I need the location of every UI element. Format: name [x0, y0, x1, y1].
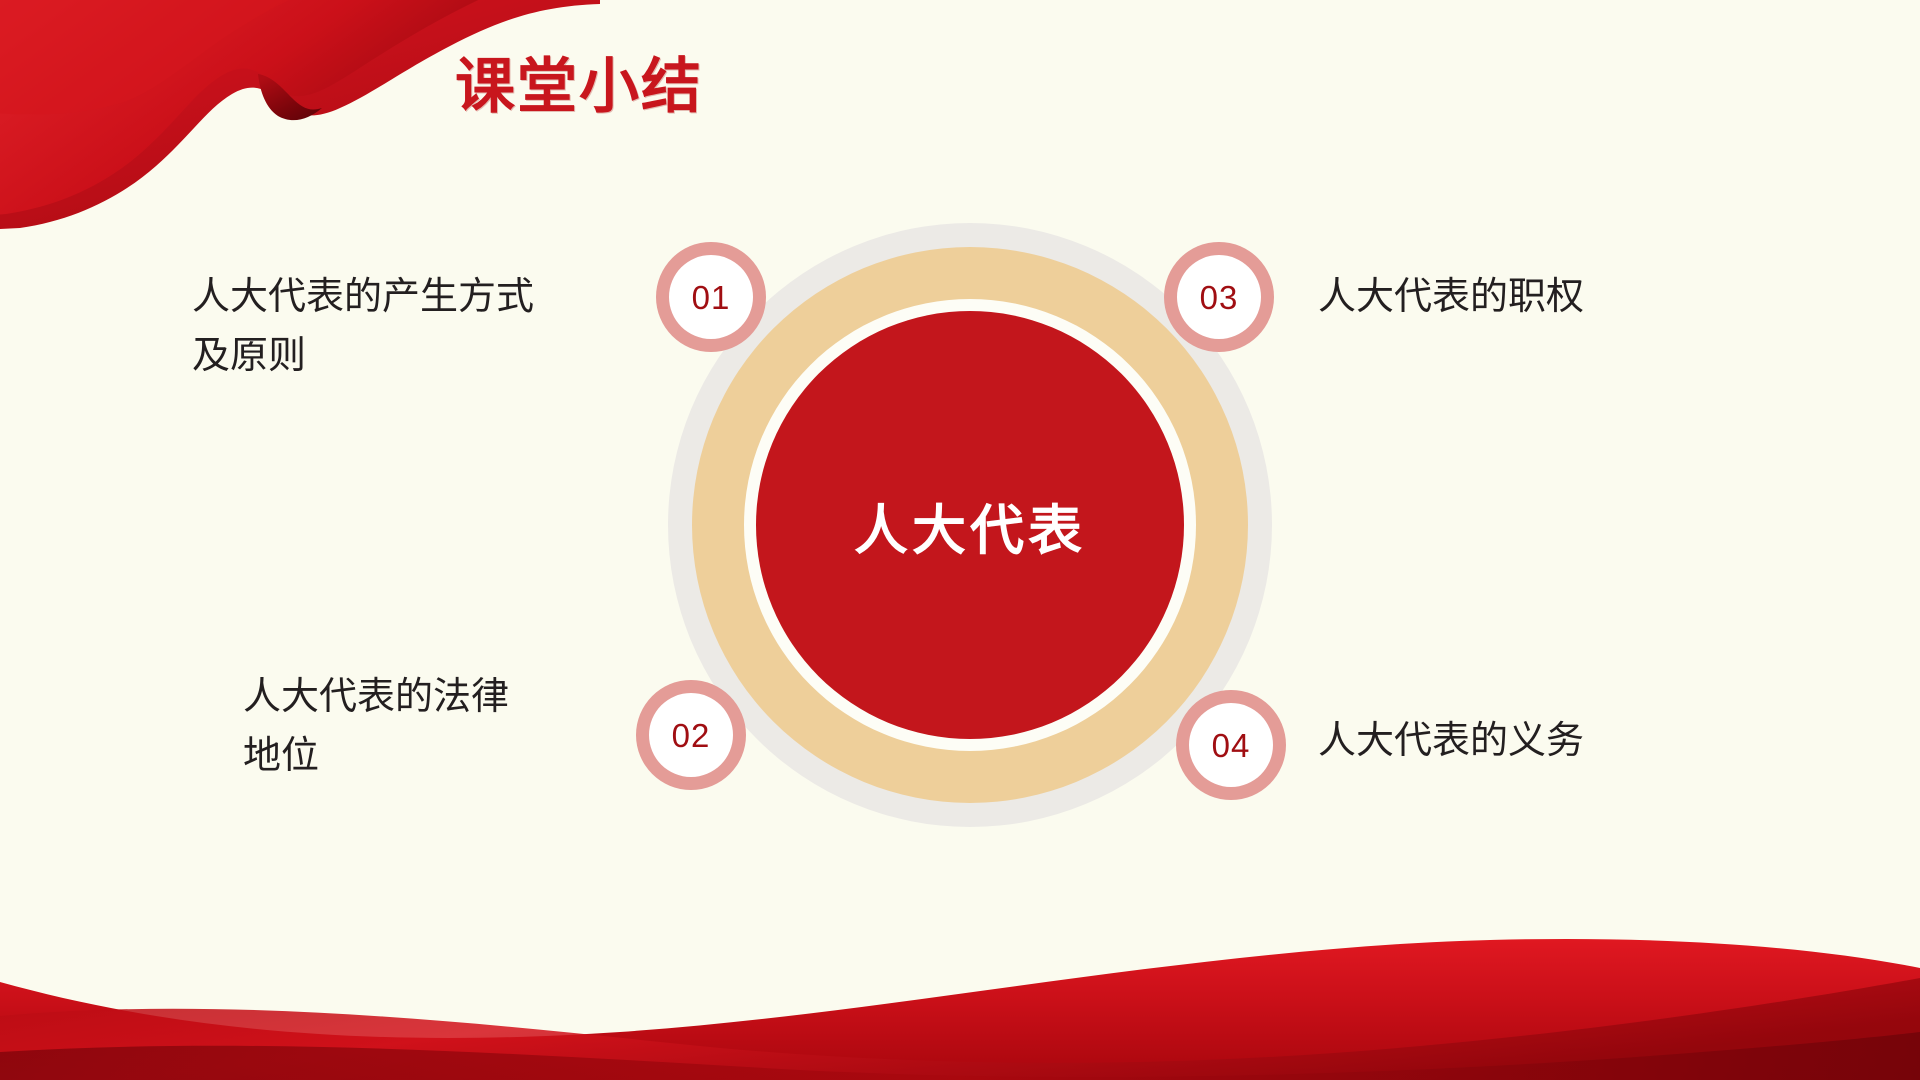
item-label-04: 人大代表的义务	[1318, 712, 1798, 771]
badge-04-number: 04	[1212, 729, 1251, 762]
badge-02-number: 02	[672, 719, 711, 752]
badge-01-number: 01	[692, 281, 731, 314]
badge-03[interactable]: 03	[1164, 242, 1274, 352]
red-wave-ribbon-decoration	[0, 920, 1920, 1080]
item-label-03: 人大代表的职权	[1318, 268, 1798, 327]
item-label-01: 人大代表的产生方式 及原则	[192, 268, 662, 386]
badge-04[interactable]: 04	[1176, 690, 1286, 800]
slide-canvas: 课堂小结 人大代表 01 02 03 04 人大代表的产生方式 及原则 人大代表…	[0, 0, 1920, 1080]
center-core-circle: 人大代表	[756, 311, 1184, 739]
badge-03-number: 03	[1200, 281, 1239, 314]
red-silk-ribbon-decoration	[0, 0, 600, 250]
badge-01[interactable]: 01	[656, 242, 766, 352]
item-label-02: 人大代表的法律 地位	[243, 668, 643, 786]
center-label: 人大代表	[854, 486, 1086, 565]
slide-title: 课堂小结	[455, 52, 703, 121]
badge-02[interactable]: 02	[636, 680, 746, 790]
